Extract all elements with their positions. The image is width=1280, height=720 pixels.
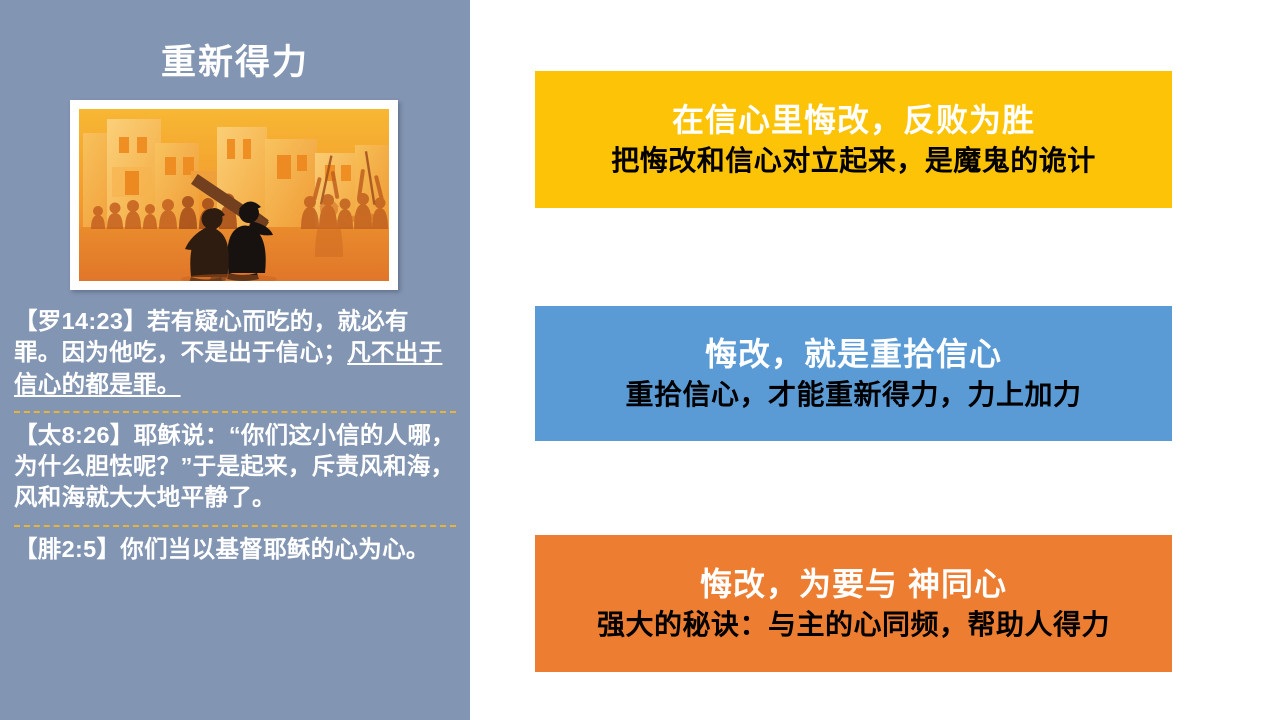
scripture-text-plain: 【腓2:5】你们当以基督耶稣的心为心。 [14, 536, 430, 562]
panel-subtext: 重拾信心，才能重新得力，力上加力 [625, 378, 1081, 412]
point-panel-regain-faith: 悔改，就是重拾信心 重拾信心，才能重新得力，力上加力 [535, 306, 1172, 441]
point-panel-one-heart-with-god: 悔改，为要与 神同心 强大的秘诀：与主的心同频，帮助人得力 [535, 535, 1172, 672]
panel-subtext: 把悔改和信心对立起来，是魔鬼的诡计 [611, 144, 1096, 178]
page-title: 重新得力 [0, 44, 470, 83]
point-panel-repentance-in-faith: 在信心里悔改，反败为胜 把悔改和信心对立起来，是魔鬼的诡计 [535, 71, 1172, 208]
scripture-list: 【罗14:23】若有疑心而吃的，就必有罪。因为他吃，不是出于信心；凡不出于信心的… [12, 306, 458, 569]
jesus-carrying-cross-illustration [79, 109, 389, 281]
panel-subtext: 强大的秘诀：与主的心同频，帮助人得力 [597, 608, 1110, 642]
panel-heading: 悔改，为要与 神同心 [700, 566, 1007, 604]
scripture-verse-phil-2-5: 【腓2:5】你们当以基督耶稣的心为心。 [12, 534, 458, 569]
scripture-verse-rom-14-23: 【罗14:23】若有疑心而吃的，就必有罪。因为他吃，不是出于信心；凡不出于信心的… [12, 306, 458, 404]
sidebar-panel: 重新得力 [0, 0, 470, 720]
scripture-text-plain: 【太8:26】耶稣说：“你们这小信的人哪，为什么胆怯呢？”于是起来，斥责风和海，… [14, 422, 455, 511]
slide-canvas: 重新得力 [0, 0, 1280, 720]
scripture-divider [14, 411, 456, 413]
scripture-divider [14, 525, 456, 527]
scripture-verse-matt-8-26: 【太8:26】耶稣说：“你们这小信的人哪，为什么胆怯呢？”于是起来，斥责风和海，… [12, 420, 458, 518]
panel-heading: 在信心里悔改，反败为胜 [672, 102, 1035, 140]
illustration-frame [70, 100, 398, 290]
panel-heading: 悔改，就是重拾信心 [705, 336, 1002, 374]
